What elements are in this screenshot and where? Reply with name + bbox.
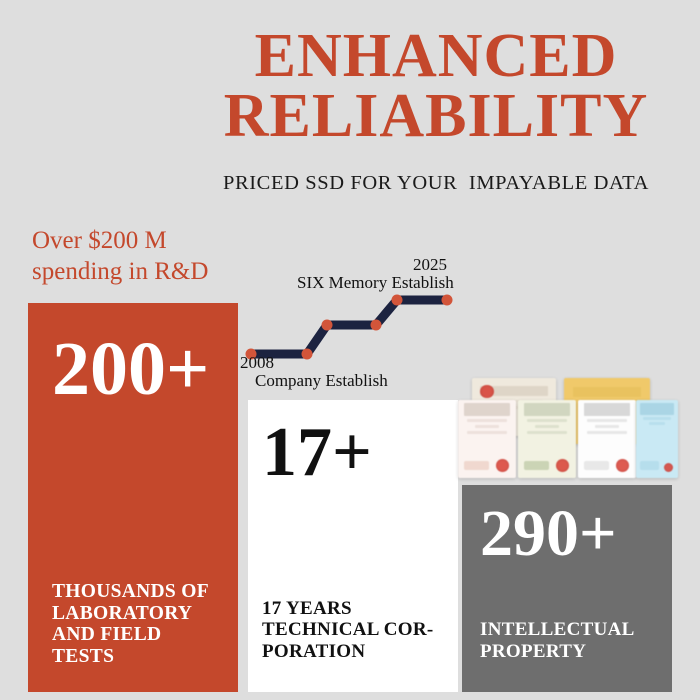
timeline-step-line [251, 300, 447, 354]
certificate-text-line [587, 419, 626, 422]
certificate-document-2 [518, 400, 576, 478]
certificate-header-band [464, 403, 510, 415]
certificate-signature [584, 461, 610, 470]
certificate-signature [640, 461, 658, 470]
certificate-seal-icon [664, 463, 673, 472]
timeline-marker-2 [322, 320, 333, 331]
stat-card-rnd: 200+ THOUSANDS OF LABORATORY AND FIELD T… [28, 303, 238, 692]
rnd-callout-line-2: spending in R&D [32, 257, 262, 288]
certificates-image-group [458, 378, 676, 480]
certificate-text-line [595, 425, 618, 428]
certificate-header-band [524, 403, 570, 415]
timeline-end-label: SIX Memory Establish [297, 273, 454, 293]
timeline-start-label: Company Establish [255, 371, 388, 391]
certificate-document-4 [636, 400, 678, 478]
rnd-spending-callout: Over $200 M spending in R&D [32, 226, 262, 287]
stat-label-ip: INTELLECTUAL PROPERTY [480, 619, 670, 662]
certificate-text-line [475, 425, 498, 428]
stat-label-rnd: THOUSANDS OF LABORATORY AND FIELD TESTS [52, 581, 232, 668]
certificate-text-line [527, 419, 566, 422]
stat-card-ip: 290+ INTELLECTUAL PROPERTY [462, 485, 672, 692]
certificate-text-line [649, 422, 666, 425]
stat-value-ip: 290+ [480, 501, 617, 567]
certificate-seal-icon [496, 459, 509, 472]
page-subtitle: PRICED SSD FOR YOUR IMPAYABLE DATA [190, 172, 682, 195]
certificate-signature [524, 461, 550, 470]
certificate-text-line [587, 431, 626, 434]
certificate-seal-icon [556, 459, 569, 472]
certificate-seal-icon [480, 385, 493, 398]
page-title: ENHANCED RELIABILITY [190, 26, 682, 146]
certificate-text-line [535, 425, 558, 428]
stat-value-rnd: 200+ [52, 331, 209, 407]
certificate-document-3 [578, 400, 636, 478]
timeline-marker-3 [371, 320, 382, 331]
certificate-header-band [640, 403, 674, 415]
rnd-callout-line-1: Over $200 M [32, 226, 262, 257]
stat-label-years: 17 YEARS TECHNICAL COR- PORATION [262, 598, 457, 662]
milestone-timeline-chart: 2008 Company Establish 2025 SIX Memory E… [235, 245, 470, 375]
certificate-text-line [643, 417, 672, 420]
certificate-document-1 [458, 400, 516, 478]
stat-value-years: 17+ [262, 418, 372, 488]
certificate-seal-icon [616, 459, 629, 472]
certificate-signature [464, 461, 490, 470]
certificate-header-band [584, 403, 630, 415]
infographic-canvas: ENHANCED RELIABILITY PRICED SSD FOR YOUR… [0, 0, 700, 700]
certificate-text-line [527, 431, 566, 434]
timeline-marker-1 [302, 349, 313, 360]
timeline-marker-4 [392, 295, 403, 306]
title-line-1: ENHANCED [255, 22, 618, 90]
certificate-text-line [467, 431, 506, 434]
timeline-marker-5 [442, 295, 453, 306]
certificate-header-band [573, 387, 642, 398]
stat-card-years: 17+ 17 YEARS TECHNICAL COR- PORATION [248, 400, 458, 692]
certificate-text-line [467, 419, 506, 422]
title-line-2: RELIABILITY [190, 86, 682, 146]
